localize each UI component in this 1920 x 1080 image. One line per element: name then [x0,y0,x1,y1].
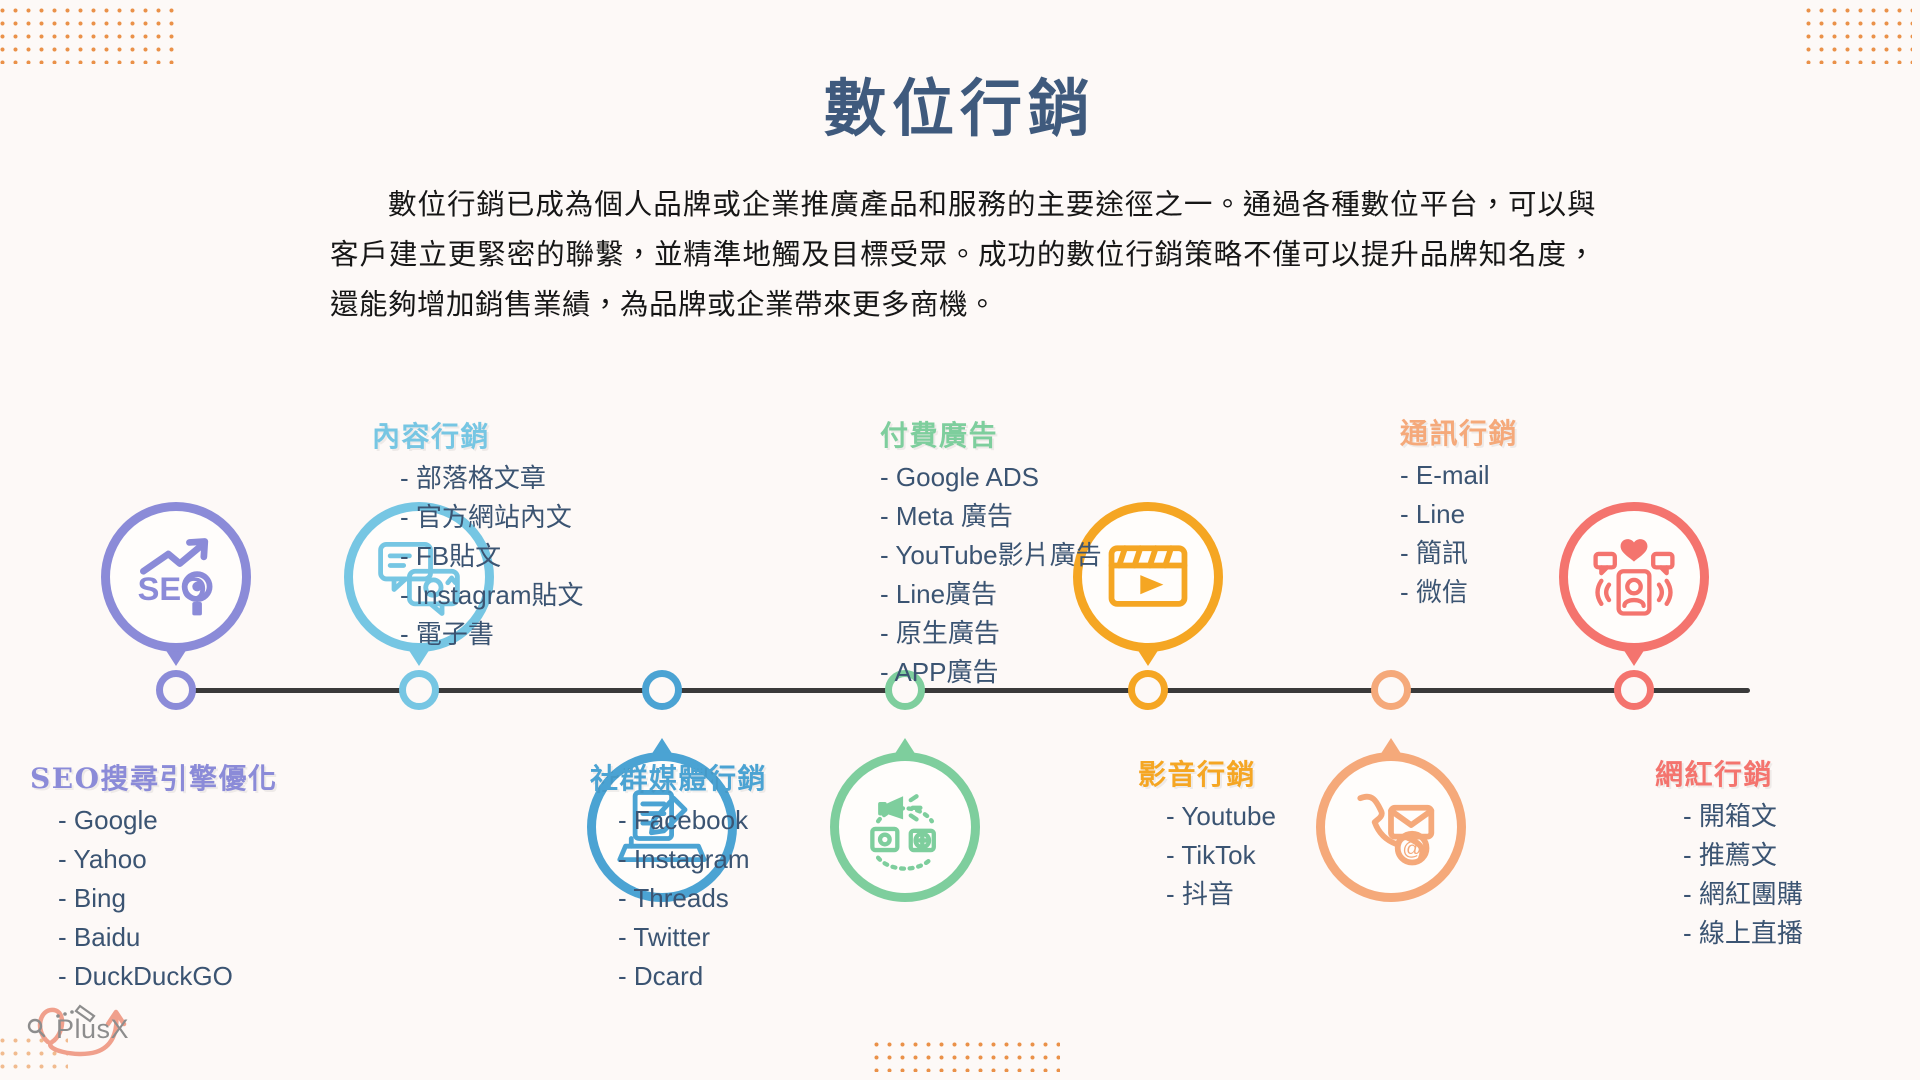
pin-marker-messaging[interactable]: @ [1316,752,1466,902]
list-item: 部落格文章 [400,459,584,498]
list-item: 電子書 [400,615,584,654]
station-heading-messaging: 通訊行銷 [1400,412,1518,452]
timeline-node-influencer[interactable] [1614,670,1654,710]
list-item: 抖音 [1166,875,1276,914]
list-item: Bing [58,879,277,918]
seo-growth-chart-icon: SEO [101,502,251,652]
svg-text:@: @ [1402,839,1421,860]
station-list-video: YoutubeTikTok抖音 [1138,797,1276,914]
list-item: Line [1400,495,1518,534]
station-heading-paid-ads: 付費廣告 [880,414,1102,454]
list-item: 推薦文 [1683,836,1803,875]
list-item: YouTube影片廣告 [880,536,1102,575]
station-block-paid-ads: 付費廣告Google ADSMeta 廣告YouTube影片廣告Line廣告原生… [880,414,1102,692]
pin-marker-influencer[interactable] [1559,502,1709,652]
list-item: Youtube [1166,797,1276,836]
list-item: Twitter [618,918,767,957]
station-heading-seo: SEO搜尋引擎優化 [30,757,277,797]
timeline-node-video[interactable] [1128,670,1168,710]
list-item: TikTok [1166,836,1276,875]
list-item: 開箱文 [1683,797,1803,836]
station-block-video: 影音行銷YoutubeTikTok抖音 [1138,753,1276,914]
station-block-influencer: 網紅行銷開箱文推薦文網紅團購線上直播 [1655,753,1803,953]
list-item: E-mail [1400,456,1518,495]
list-item: 微信 [1400,573,1518,612]
list-item: 網紅團購 [1683,875,1803,914]
station-heading-video: 影音行銷 [1138,753,1276,793]
list-item: Instagram貼文 [400,576,584,615]
pin-marker-paid-ads[interactable] [830,752,980,902]
list-item: FB貼文 [400,537,584,576]
list-item: Baidu [58,918,277,957]
list-item: Google [58,801,277,840]
station-list-seo: GoogleYahooBingBaiduDuckDuckGO [30,801,277,996]
list-item: Threads [618,879,767,918]
list-item: 簡訊 [1400,534,1518,573]
timeline-node-seo[interactable] [156,670,196,710]
list-item: 原生廣告 [880,614,1102,653]
station-block-messaging: 通訊行銷E-mailLine簡訊微信 [1400,412,1518,612]
station-heading-influencer: 網紅行銷 [1655,753,1803,793]
phone-email-icon: @ [1316,752,1466,902]
list-item: Yahoo [58,840,277,879]
station-block-social: 社群媒體行銷FacebookInstagramThreadsTwitterDca… [590,757,767,996]
station-list-social: FacebookInstagramThreadsTwitterDcard [590,801,767,996]
list-item: APP廣告 [880,653,1102,692]
station-list-influencer: 開箱文推薦文網紅團購線上直播 [1655,797,1803,953]
smartphone-hearts-icon [1559,502,1709,652]
list-item: 官方網站內文 [400,498,584,537]
list-item: 線上直播 [1683,914,1803,953]
station-heading-content: 內容行銷 [372,415,584,455]
station-list-content: 部落格文章官方網站內文FB貼文Instagram貼文電子書 [372,459,584,654]
station-block-seo: SEO搜尋引擎優化GoogleYahooBingBaiduDuckDuckGO [30,757,277,996]
megaphone-target-icon [830,752,980,902]
pin-marker-seo[interactable]: SEO [101,502,251,652]
timeline: SEO [0,0,1920,1080]
station-block-content: 內容行銷部落格文章官方網站內文FB貼文Instagram貼文電子書 [372,415,584,654]
list-item: Line廣告 [880,575,1102,614]
brand-logo: PlusX [18,990,148,1062]
brand-name: PlusX [56,1014,129,1045]
list-item: Google ADS [880,458,1102,497]
list-item: Facebook [618,801,767,840]
station-list-messaging: E-mailLine簡訊微信 [1400,456,1518,612]
list-item: Instagram [618,840,767,879]
timeline-node-content[interactable] [399,670,439,710]
timeline-node-social[interactable] [642,670,682,710]
timeline-node-messaging[interactable] [1371,670,1411,710]
list-item: Dcard [618,957,767,996]
list-item: Meta 廣告 [880,497,1102,536]
station-heading-social: 社群媒體行銷 [590,757,767,797]
station-list-paid-ads: Google ADSMeta 廣告YouTube影片廣告Line廣告原生廣告AP… [880,458,1102,692]
